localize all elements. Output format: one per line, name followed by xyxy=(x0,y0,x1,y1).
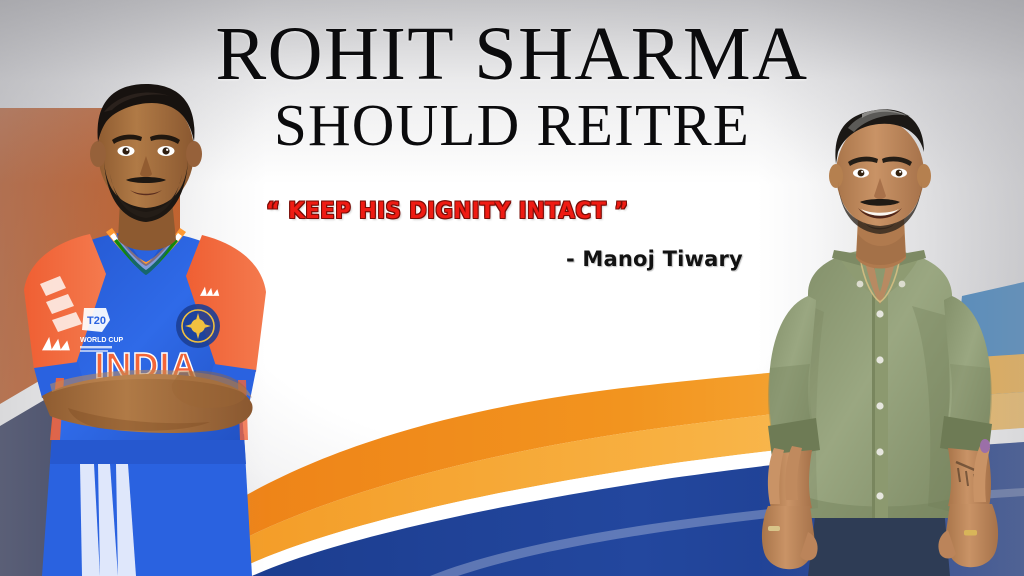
person-manoj-tiwary xyxy=(712,106,1024,576)
svg-text:WORLD CUP: WORLD CUP xyxy=(80,337,123,344)
quote-text: “ KEEP HIS DIGNITY INTACT ” xyxy=(266,199,629,224)
rohit-trousers xyxy=(42,434,252,576)
manoj-jeans xyxy=(808,508,950,576)
manoj-right-arm xyxy=(938,296,998,567)
thumbnail-canvas: T20 WORLD CUP xyxy=(0,0,1024,576)
bcci-badge xyxy=(176,304,220,348)
manoj-left-arm xyxy=(762,296,820,569)
rohit-head xyxy=(90,84,202,222)
quote-attribution: - Manoj Tiwary xyxy=(566,247,743,271)
manoj-head xyxy=(829,109,931,234)
person-rohit-sharma: T20 WORLD CUP xyxy=(0,78,324,576)
svg-text:T20: T20 xyxy=(87,315,106,327)
manoj-shirt xyxy=(804,248,960,518)
